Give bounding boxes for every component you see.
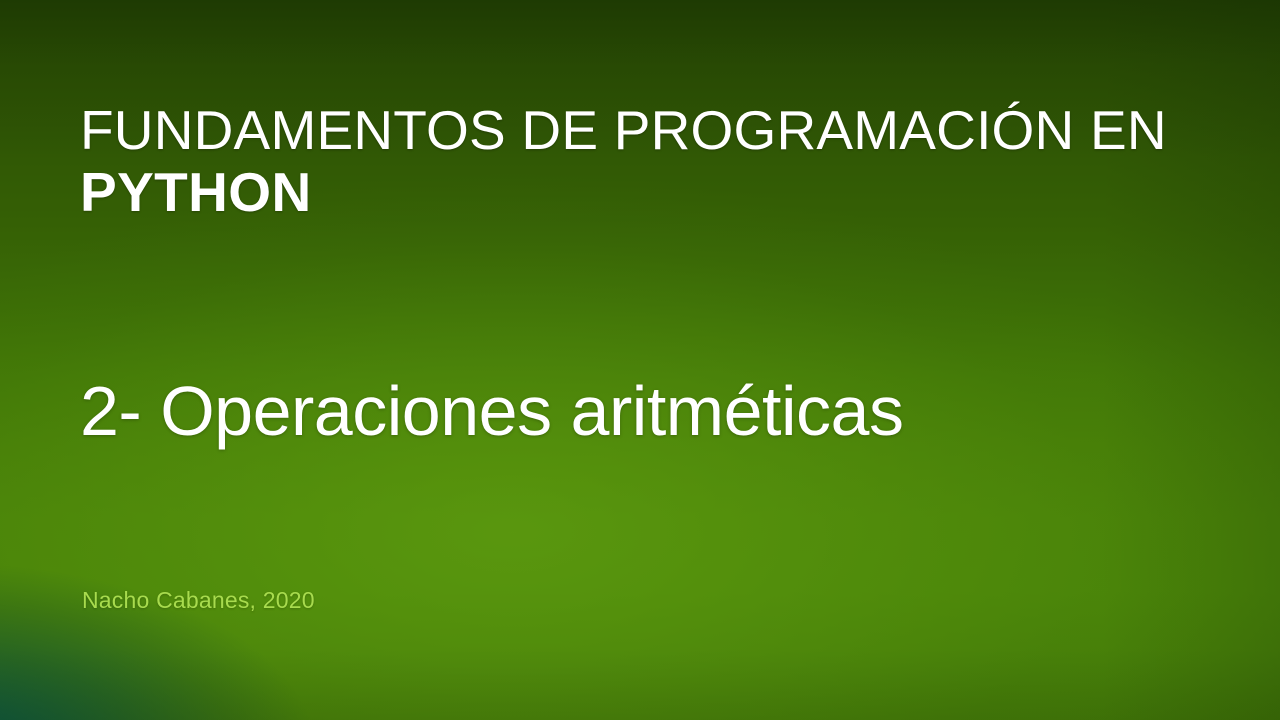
course-title-line-1: FUNDAMENTOS DE PROGRAMACIÓN EN — [80, 99, 1200, 161]
slide-content: FUNDAMENTOS DE PROGRAMACIÓN EN PYTHON 2-… — [0, 0, 1280, 720]
course-title-line-2: PYTHON — [80, 161, 1200, 223]
title-slide: FUNDAMENTOS DE PROGRAMACIÓN EN PYTHON 2-… — [0, 0, 1280, 720]
author-credit: Nacho Cabanes, 2020 — [82, 585, 315, 615]
slide-title: FUNDAMENTOS DE PROGRAMACIÓN EN PYTHON — [80, 99, 1200, 223]
lesson-subtitle: 2- Operaciones aritméticas — [80, 369, 1220, 453]
